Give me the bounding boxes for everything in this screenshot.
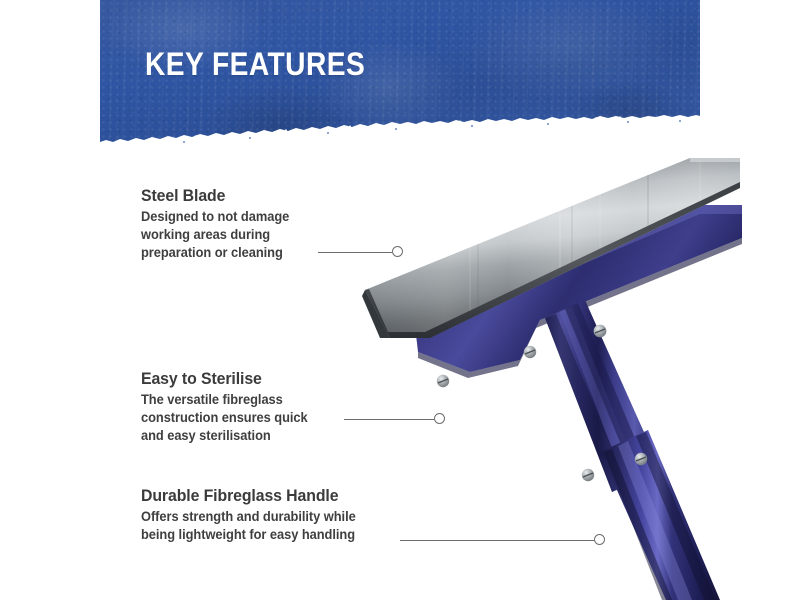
feature-heading: Easy to Sterilise (141, 369, 308, 390)
bracket-screws (437, 325, 647, 482)
feature-body: Offers strength and durability while bei… (141, 508, 356, 544)
feature-heading: Steel Blade (141, 186, 289, 207)
leader-line-easy-to-sterilise (344, 413, 445, 425)
feature-heading: Durable Fibreglass Handle (141, 486, 356, 507)
leader-line-durable-fibreglass-handle (400, 534, 605, 546)
feature-block-steel-blade: Steel Blade Designed to not damage worki… (141, 186, 295, 262)
feature-block-durable-fibreglass-handle: Durable Fibreglass Handle Offers strengt… (141, 486, 365, 544)
feature-body: Designed to not damage working areas dur… (141, 208, 289, 263)
feature-block-easy-to-sterilise: Easy to Sterilise The versatile fibregla… (141, 369, 315, 445)
fibreglass-handle (600, 430, 720, 600)
blue-bracket (415, 205, 742, 378)
steel-blade (360, 150, 750, 350)
banner-torn-edge (100, 115, 700, 150)
header-banner: KEY FEATURES (100, 0, 700, 150)
leader-line-steel-blade (318, 246, 403, 258)
page-title: KEY FEATURES (145, 48, 365, 80)
handle-socket (545, 300, 660, 492)
feature-body: The versatile fibreglass construction en… (141, 391, 308, 446)
infographic-canvas: KEY FEATURES Steel Blade Designed to not… (0, 0, 800, 600)
